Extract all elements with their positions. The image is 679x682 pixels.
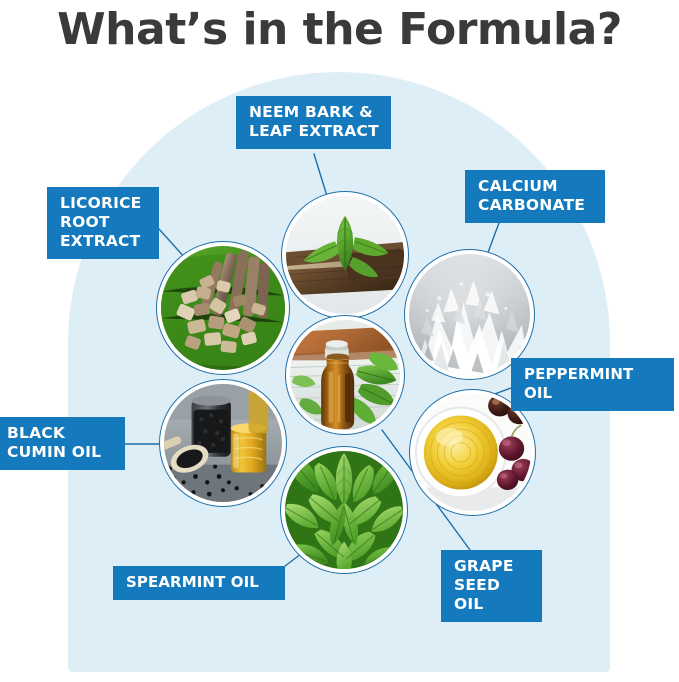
label-calcium-carbonate[interactable]: CALCIUM CARBONATE <box>465 170 605 223</box>
label-licorice-root-extract[interactable]: LICORICE ROOT EXTRACT <box>47 187 159 259</box>
calcium-carbonate-photo <box>409 254 530 375</box>
ingredient-circle-licorice[interactable] <box>156 241 290 375</box>
label-spearmint-oil[interactable]: SPEARMINT OIL <box>113 566 285 600</box>
label-grape-seed-oil[interactable]: GRAPE SEED OIL <box>441 550 542 622</box>
page-title: What’s in the Formula? <box>0 2 679 58</box>
neem-bark-leaf-photo <box>286 196 404 314</box>
licorice-root-photo <box>161 246 285 370</box>
peppermint-oil-photo <box>290 320 400 430</box>
spearmint-oil-photo <box>285 451 403 569</box>
infographic-canvas: What’s in the Formula? <box>0 0 679 682</box>
label-peppermint-oil[interactable]: PEPPERMINT OIL <box>511 358 674 411</box>
label-black-cumin-oil[interactable]: BLACK CUMIN OIL <box>0 417 125 470</box>
grape-seed-oil-photo <box>414 394 531 511</box>
black-cumin-oil-photo <box>164 384 282 502</box>
ingredient-circle-peppermint[interactable] <box>285 315 405 435</box>
ingredient-circle-neem[interactable] <box>281 191 409 319</box>
label-neem-bark-leaf-extract[interactable]: NEEM BARK & LEAF EXTRACT <box>236 96 391 149</box>
ingredient-circle-blackcumin[interactable] <box>159 379 287 507</box>
ingredient-circle-spearmint[interactable] <box>280 446 408 574</box>
